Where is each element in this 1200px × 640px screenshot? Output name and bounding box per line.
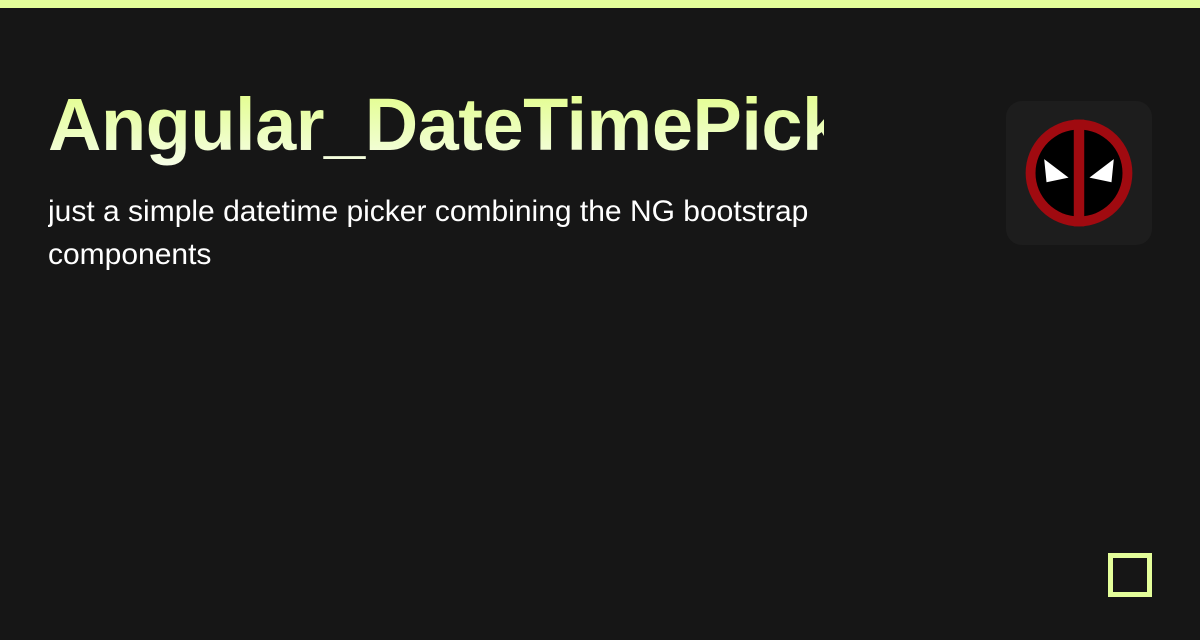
social-preview-card: Angular_DateTimePicker just a simple dat… <box>0 8 1200 640</box>
deadpool-logo-icon <box>1021 115 1137 231</box>
repository-text-block: Angular_DateTimePicker just a simple dat… <box>48 88 824 276</box>
top-accent-bar <box>0 0 1200 8</box>
square-outline-icon <box>1108 553 1152 597</box>
avatar <box>1006 101 1152 245</box>
repository-title: Angular_DateTimePicker <box>48 88 824 168</box>
repository-description: just a simple datetime picker combining … <box>48 190 824 276</box>
